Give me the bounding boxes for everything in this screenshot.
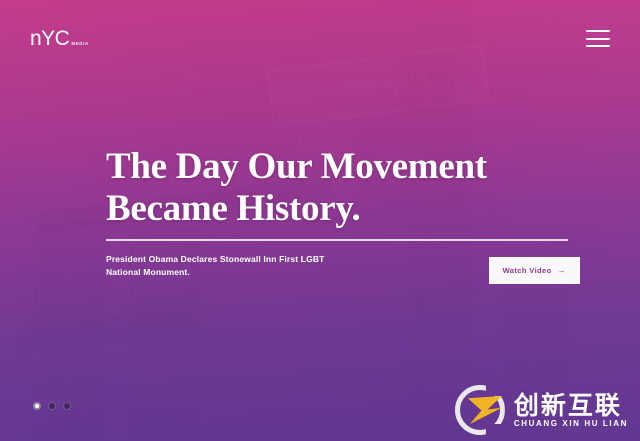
watch-video-label: Watch Video bbox=[503, 266, 552, 275]
carousel-dot-2[interactable] bbox=[48, 402, 56, 410]
carousel-dot-1[interactable] bbox=[33, 402, 41, 410]
site-header: nYC media bbox=[0, 0, 640, 78]
hero-subtitle: President Obama Declares Stonewall Inn F… bbox=[106, 253, 356, 279]
hero-copy: The Day Our Movement Became History. bbox=[106, 146, 576, 230]
headline-line-1: The Day Our Movement bbox=[106, 146, 576, 188]
watermark-chinese: 创新互联 bbox=[514, 393, 628, 418]
hamburger-menu-icon[interactable] bbox=[586, 30, 610, 47]
arrow-right-icon: → bbox=[558, 267, 566, 275]
hamburger-bar bbox=[586, 30, 610, 32]
logo-subtext: media bbox=[71, 41, 89, 46]
watch-video-button[interactable]: Watch Video → bbox=[489, 257, 580, 284]
watermark: 创新互联 CHUANG XIN HU LIAN bbox=[455, 385, 628, 435]
hero-divider bbox=[106, 239, 568, 241]
carousel-dot-3[interactable] bbox=[63, 402, 71, 410]
headline-line-2: Became History. bbox=[106, 188, 576, 230]
logo-wordmark: nYC bbox=[30, 28, 69, 49]
site-logo[interactable]: nYC media bbox=[30, 28, 89, 49]
hamburger-bar bbox=[586, 38, 610, 40]
hero-banner: STONEWALL S nYC media The Day bbox=[0, 0, 640, 441]
hero-subrow: President Obama Declares Stonewall Inn F… bbox=[106, 253, 580, 284]
watermark-pinyin: CHUANG XIN HU LIAN bbox=[514, 420, 628, 428]
watermark-logo-icon bbox=[455, 385, 505, 435]
carousel-dots bbox=[33, 402, 71, 410]
watermark-text: 创新互联 CHUANG XIN HU LIAN bbox=[514, 393, 628, 428]
hamburger-bar bbox=[586, 45, 610, 47]
page-title: The Day Our Movement Became History. bbox=[106, 146, 576, 230]
